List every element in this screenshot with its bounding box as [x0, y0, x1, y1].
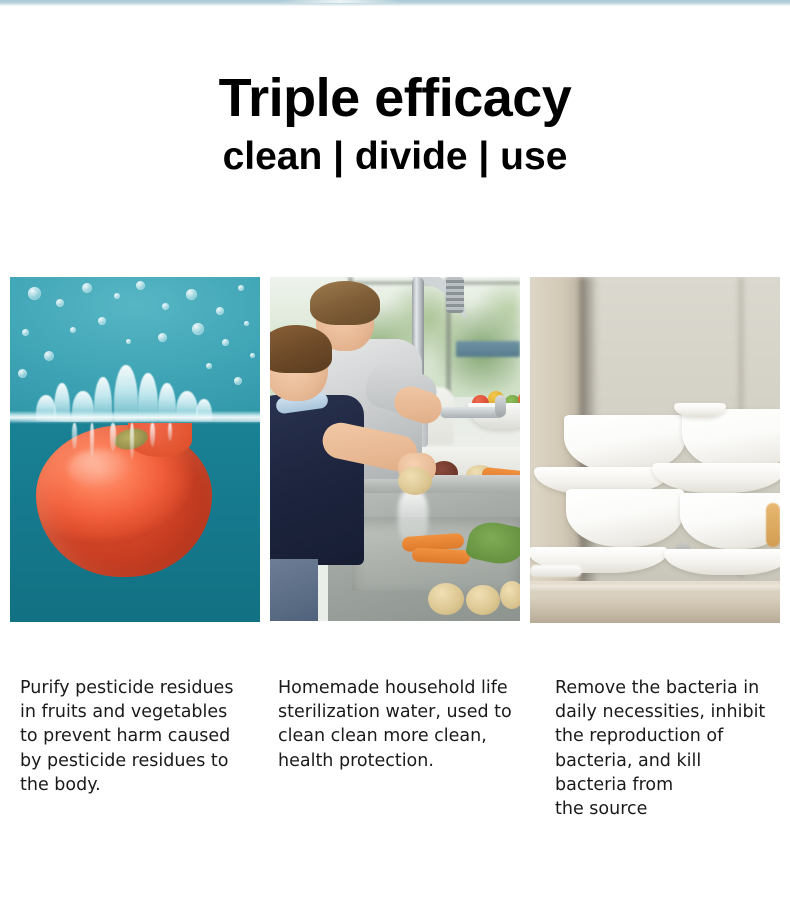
- water-drip: [168, 423, 172, 441]
- water-droplet: [56, 299, 64, 307]
- water-droplet: [98, 317, 106, 325]
- water-droplet: [186, 289, 197, 300]
- feature-image-use: [530, 277, 780, 623]
- page-subtitle: clean | divide | use: [0, 134, 790, 180]
- water-droplet: [158, 333, 167, 342]
- tomato-highlight: [68, 449, 134, 489]
- water-droplet: [82, 283, 92, 293]
- water-droplet: [126, 339, 131, 344]
- water-droplet: [28, 287, 41, 300]
- feature-caption-divide: Homemade household life sterilization wa…: [278, 676, 530, 773]
- page-title: Triple efficacy: [0, 68, 790, 128]
- feature-image-row: [10, 277, 780, 622]
- potato: [428, 583, 464, 615]
- boy-back-hair: [310, 281, 380, 325]
- water-drip: [90, 423, 94, 457]
- water-drip: [110, 423, 116, 451]
- boy-front-hair: [270, 325, 332, 373]
- water-droplet: [192, 323, 204, 335]
- feature-image-clean: [10, 277, 260, 622]
- heading-block: Triple efficacy clean | divide | use: [0, 68, 790, 180]
- lid: [674, 403, 726, 417]
- water-droplet: [22, 329, 29, 336]
- promo-page: Triple efficacy clean | divide | use: [0, 0, 790, 913]
- wooden-spoon: [766, 503, 780, 547]
- water-drip: [150, 423, 155, 447]
- feature-caption-clean: Purify pesticide residues in fruits and …: [20, 676, 260, 797]
- boy-front-jeans: [270, 559, 318, 621]
- garden-bench: [456, 341, 520, 357]
- water-droplet: [70, 327, 76, 333]
- water-droplet: [162, 303, 169, 310]
- feature-image-divide: [270, 277, 520, 621]
- potato-being-washed: [398, 467, 432, 495]
- potato: [500, 581, 520, 609]
- band-sheen: [280, 0, 400, 3]
- water-droplet: [136, 281, 145, 290]
- feature-caption-row: Purify pesticide residues in fruits and …: [0, 676, 790, 856]
- water-droplet: [244, 321, 249, 326]
- shelf-edge-highlight: [530, 585, 780, 593]
- water-droplet: [238, 285, 244, 291]
- water-droplet: [114, 293, 120, 299]
- water-droplet: [222, 339, 229, 346]
- carrot: [412, 547, 471, 564]
- feature-caption-use: Remove the bacteria in daily necessities…: [555, 676, 787, 821]
- water-droplet: [18, 369, 27, 378]
- top-accent-band: [0, 0, 790, 6]
- water-droplet: [234, 377, 242, 385]
- water-drip: [130, 423, 134, 459]
- potato: [466, 585, 500, 615]
- white-cord: [530, 565, 582, 577]
- water-droplet: [250, 353, 255, 358]
- water-drip: [72, 423, 77, 449]
- sink-spout: [440, 407, 504, 418]
- water-droplet: [216, 307, 224, 315]
- boy-front-shirt: [270, 395, 364, 565]
- faucet-coil: [446, 277, 464, 313]
